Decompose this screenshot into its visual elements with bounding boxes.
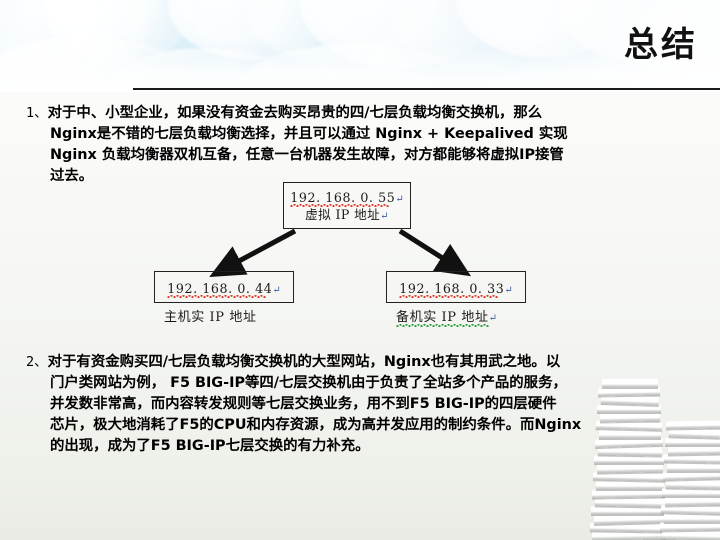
virtual-ip-label: 虚拟 IP 地址↵ (284, 207, 410, 224)
virtual-ip-node: 192. 168. 0. 55↵ 虚拟 IP 地址↵ (283, 182, 411, 229)
paragraph-mark-icon: ↵ (395, 194, 403, 205)
host-node-caption: 主机实 IP 地址 (164, 306, 257, 325)
host-ip-node: 192. 168. 0. 44↵ (154, 271, 294, 303)
paragraph-2-line-4: 芯片，极大地消耗了F5的CPU和内存资源，成为高并发应用的制约条件。而Nginx (50, 417, 581, 433)
paragraph-1-marker: 1、 (26, 105, 48, 121)
network-topology-diagram: 192. 168. 0. 55↵ 虚拟 IP 地址↵ 192. 168. 0. … (130, 178, 550, 333)
paragraph-1-line-2: Nginx是不错的七层负载均衡选择，并且可以通过 Nginx + Keepali… (50, 126, 568, 142)
backup-node-caption: 备机实 IP 地址↵ (396, 306, 498, 325)
paragraph-2-line-5: 的出现，成为了F5 BIG-IP七层交换的有力补充。 (50, 438, 370, 454)
backup-ip-node: 192. 168. 0. 33↵ (386, 271, 526, 303)
paragraph-1-line-3: Nginx 负载均衡器双机互备，任意一台机器发生故障，对方都能够将虚拟IP接管 (50, 147, 564, 163)
paragraph-2-line-2: 门户类网站为例， F5 BIG-IP等四/七层交换机由于负责了全站多个产品的服务… (50, 375, 567, 391)
page-title: 总结 (624, 28, 698, 62)
paragraph-mark-icon: ↵ (504, 285, 512, 296)
virtual-ip-value: 192. 168. 0. 55 (290, 190, 395, 205)
backup-ip-value: 192. 168. 0. 33 (399, 281, 504, 296)
sky-header-banner (0, 0, 720, 92)
slide-canvas: 总结 1、对于中、小型企业，如果没有资金去购买昂贵的四/七层负载均衡交换机，那么… (0, 0, 720, 540)
title-divider-rule (133, 88, 720, 90)
paragraph-1: 1、对于中、小型企业，如果没有资金去购买昂贵的四/七层负载均衡交换机，那么Ngi… (26, 103, 698, 187)
paragraph-2-marker: 2、 (26, 354, 48, 370)
paragraph-mark-icon: ↵ (272, 285, 280, 296)
paragraph-1-line-1: 对于中、小型企业，如果没有资金去购买昂贵的四/七层负载均衡交换机，那么 (48, 105, 543, 121)
paragraph-2: 2、对于有资金购买四/七层负载均衡交换机的大型网站，Nginx也有其用武之地。以… (26, 352, 702, 457)
host-ip-value: 192. 168. 0. 44 (167, 281, 272, 296)
paragraph-1-line-4: 过去。 (50, 168, 93, 184)
paragraph-2-line-1: 对于有资金购买四/七层负载均衡交换机的大型网站，Nginx也有其用武之地。以 (48, 354, 561, 370)
paragraph-2-line-3: 并发数非常高，而内容转发规则等七层交换业务，用不到F5 BIG-IP的四层硬件 (50, 396, 557, 412)
